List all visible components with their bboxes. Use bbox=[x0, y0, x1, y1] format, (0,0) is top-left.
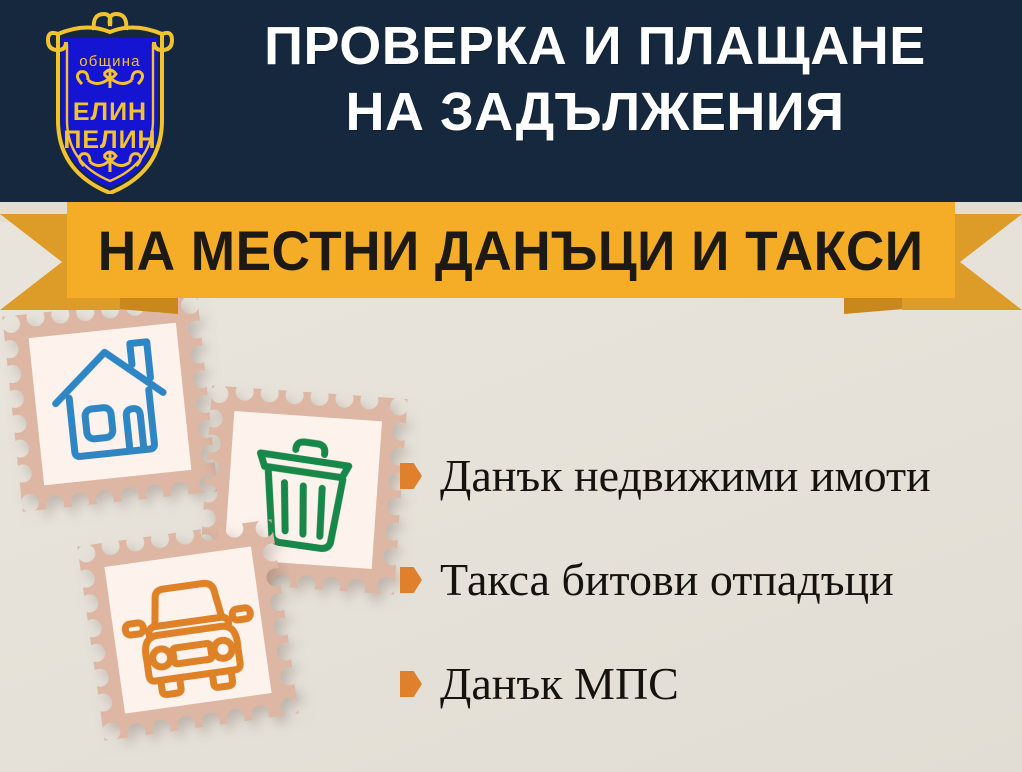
list-item-label: Такса битови отпадъци bbox=[440, 557, 894, 603]
logo-word-line2: ПЕЛИН bbox=[63, 126, 156, 154]
ribbon-banner: НА МЕСТНИ ДАНЪЦИ И ТАКСИ bbox=[0, 196, 1022, 316]
logo-word-line1: ЕЛИН bbox=[73, 98, 147, 126]
page-title-line2: НА ЗАДЪЛЖЕНИЯ bbox=[185, 80, 1005, 146]
list-item[interactable]: Данък недвижими имоти bbox=[400, 424, 1010, 528]
list-item[interactable]: Такса битови отпадъци bbox=[400, 528, 1010, 632]
arrow-bullet-icon bbox=[400, 671, 422, 697]
ribbon-band: НА МЕСТНИ ДАНЪЦИ И ТАКСИ bbox=[67, 202, 955, 298]
list-item-label: Данък недвижими имоти bbox=[440, 453, 931, 499]
municipality-logo: община ЕЛИН ПЕЛИН bbox=[42, 8, 178, 194]
logo-word-community: община bbox=[79, 53, 140, 70]
header-bar: община ЕЛИН ПЕЛИН bbox=[0, 0, 1022, 202]
page-title-line1: ПРОВЕРКА И ПЛАЩАНЕ bbox=[264, 16, 926, 76]
arrow-bullet-icon bbox=[400, 463, 422, 489]
stamp-house bbox=[2, 296, 217, 511]
ribbon-label: НА МЕСТНИ ДАНЪЦИ И ТАКСИ bbox=[98, 218, 924, 283]
list-item-label: Данък МПС bbox=[440, 661, 679, 707]
poster-root: община ЕЛИН ПЕЛИН bbox=[0, 0, 1022, 772]
arrow-bullet-icon bbox=[400, 567, 422, 593]
tax-type-list: Данък недвижими имоти Такса битови отпад… bbox=[400, 424, 1010, 736]
stamp-car bbox=[77, 519, 298, 740]
stamp-collage bbox=[0, 300, 420, 772]
page-title: ПРОВЕРКА И ПЛАЩАНЕ НА ЗАДЪЛЖЕНИЯ bbox=[185, 14, 1005, 146]
list-item[interactable]: Данък МПС bbox=[400, 632, 1010, 736]
